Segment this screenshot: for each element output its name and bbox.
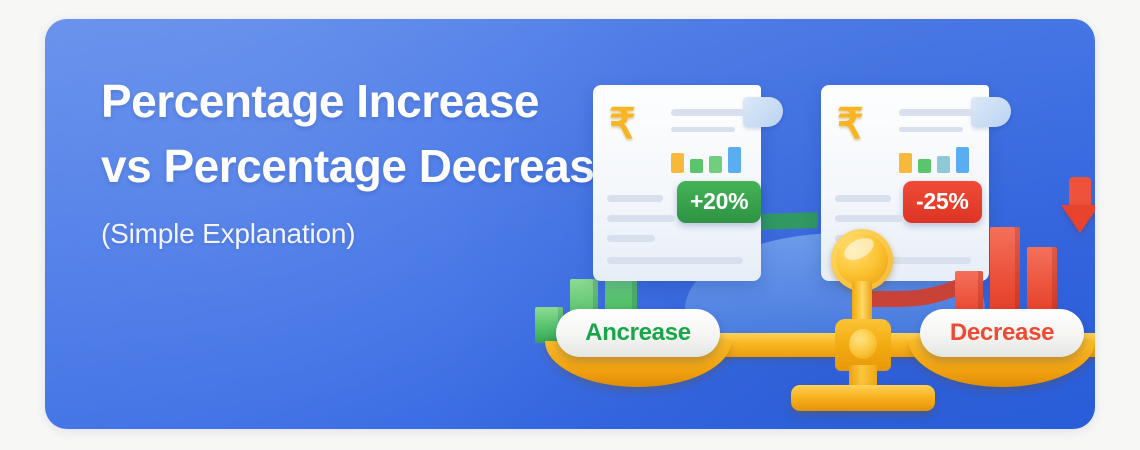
coin-shine bbox=[841, 234, 878, 265]
scale-label-increase: Ancrease bbox=[556, 309, 720, 357]
balance-scale: Ancrease Decrease bbox=[525, 19, 1095, 429]
scale-label-decrease: Decrease bbox=[920, 309, 1084, 357]
scale-hub-knob bbox=[849, 329, 877, 359]
screenshot-canvas: Percentage Increase vs Percentage Decrea… bbox=[0, 0, 1140, 450]
scale-base bbox=[791, 385, 935, 411]
illustration: ₹ +20% ₹ bbox=[525, 19, 1095, 429]
hero-card: Percentage Increase vs Percentage Decrea… bbox=[45, 19, 1095, 429]
